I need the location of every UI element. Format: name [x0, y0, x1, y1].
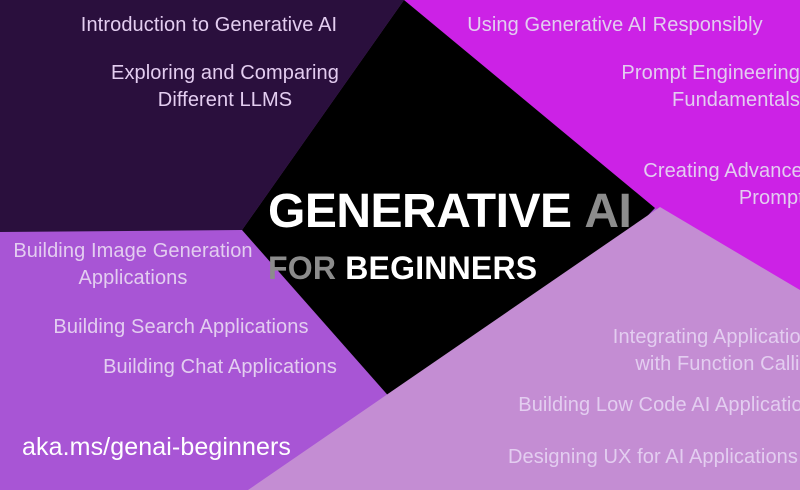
module-label-exploring-llms: Exploring and Comparing Different LLMS: [60, 60, 390, 114]
page-subtitle: FOR BEGINNERS: [268, 250, 648, 286]
module-label-prompt-basics: Prompt Engineering Fundamentals: [430, 60, 800, 114]
module-label-ux-design: Designing UX for AI Applications: [420, 444, 798, 471]
aka-ms-link[interactable]: aka.ms/genai-beginners: [22, 432, 291, 462]
module-label-low-code: Building Low Code AI Applications: [430, 392, 800, 419]
title-word-generative: GENERATIVE: [268, 185, 571, 238]
generative-ai-poster: Introduction to Generative AI Exploring …: [0, 0, 800, 490]
module-label-function-calling: Integrating Applications with Function C…: [430, 324, 800, 378]
module-label-chat-apps: Building Chat Applications: [60, 354, 380, 381]
subtitle-word-beginners: BEGINNERS: [345, 250, 537, 286]
module-label-image-gen: Building Image Generation Applications: [0, 238, 278, 292]
title-word-ai: AI: [584, 185, 631, 238]
module-label-intro: Introduction to Generative AI: [44, 12, 374, 39]
module-label-search-apps: Building Search Applications: [22, 314, 340, 341]
subtitle-word-for: FOR: [268, 250, 336, 286]
page-title: GENERATIVE AI: [268, 186, 648, 238]
poster-wordmark: GENERATIVE AI FOR BEGINNERS: [268, 186, 648, 286]
module-label-responsible-ai: Using Generative AI Responsibly: [440, 12, 790, 39]
